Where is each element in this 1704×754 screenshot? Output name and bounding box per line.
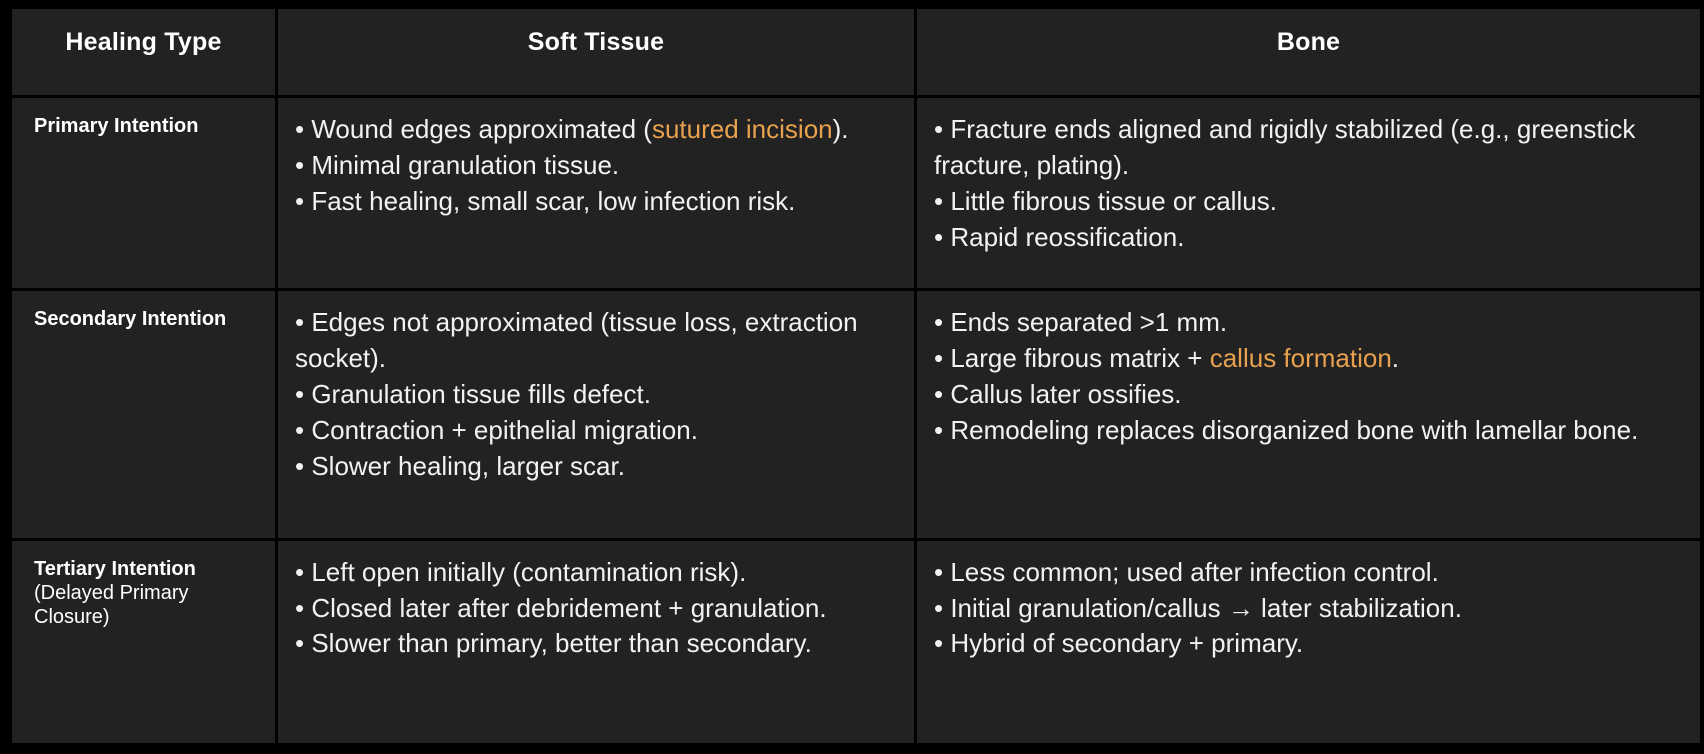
table-body: Primary Intention Wound edges approximat… xyxy=(11,97,1702,745)
bullet-item: Fracture ends aligned and rigidly stabil… xyxy=(934,112,1686,184)
bullet-text: Left open initially (contamination risk)… xyxy=(311,557,746,587)
table-row: Tertiary Intention (Delayed Primary Clos… xyxy=(11,539,1702,744)
bullet-list: Fracture ends aligned and rigidly stabil… xyxy=(934,112,1686,256)
column-header-healing-type: Healing Type xyxy=(11,8,277,97)
bullet-text: Less common; used after infection contro… xyxy=(950,557,1438,587)
column-header-soft-tissue: Soft Tissue xyxy=(277,8,916,97)
table-page: Healing Type Soft Tissue Bone Primary In… xyxy=(0,0,1704,754)
bullet-text: Granulation tissue fills defect. xyxy=(311,379,651,409)
cell-secondary-bone: Ends separated >1 mm.Large fibrous matri… xyxy=(916,290,1702,539)
bullet-item: Left open initially (contamination risk)… xyxy=(295,555,900,591)
highlighted-term: sutured incision xyxy=(652,114,833,144)
bullet-text: ). xyxy=(833,114,849,144)
cell-primary-bone: Fracture ends aligned and rigidly stabil… xyxy=(916,97,1702,290)
bullet-text: Slower healing, larger scar. xyxy=(311,451,625,481)
bullet-text: Hybrid of secondary + primary. xyxy=(950,628,1303,658)
bullet-item: Little fibrous tissue or callus. xyxy=(934,184,1686,220)
highlighted-term: callus formation xyxy=(1210,343,1392,373)
bullet-text: Edges not approximated (tissue loss, ext… xyxy=(295,307,858,373)
table-row: Secondary Intention Edges not approximat… xyxy=(11,290,1702,539)
column-header-bone: Bone xyxy=(916,8,1702,97)
bullet-item: Remodeling replaces disorganized bone wi… xyxy=(934,413,1686,449)
bullet-item: Slower than primary, better than seconda… xyxy=(295,626,900,662)
bullet-list: Ends separated >1 mm.Large fibrous matri… xyxy=(934,305,1686,449)
bullet-list: Edges not approximated (tissue loss, ext… xyxy=(295,305,900,484)
bullet-text: Callus later ossifies. xyxy=(950,379,1181,409)
bullet-item: Ends separated >1 mm. xyxy=(934,305,1686,341)
table-header: Healing Type Soft Tissue Bone xyxy=(11,8,1702,97)
cell-tertiary-bone: Less common; used after infection contro… xyxy=(916,539,1702,744)
bullet-text: Rapid reossification. xyxy=(950,222,1184,252)
row-label-secondary-intention: Secondary Intention xyxy=(11,290,277,539)
bullet-item: Rapid reossification. xyxy=(934,220,1686,256)
bullet-text: Minimal granulation tissue. xyxy=(311,150,619,180)
healing-comparison-table: Healing Type Soft Tissue Bone Primary In… xyxy=(9,6,1703,746)
bullet-item: Contraction + epithelial migration. xyxy=(295,413,900,449)
cell-tertiary-soft-tissue: Left open initially (contamination risk)… xyxy=(277,539,916,744)
row-label-tertiary-intention: Tertiary Intention (Delayed Primary Clos… xyxy=(11,539,277,744)
bullet-item: Closed later after debridement + granula… xyxy=(295,591,900,627)
row-label-main: Primary Intention xyxy=(34,114,265,138)
bullet-text: Slower than primary, better than seconda… xyxy=(311,628,812,658)
bullet-text: Ends separated >1 mm. xyxy=(950,307,1227,337)
bullet-item: Initial granulation/callus → later stabi… xyxy=(934,591,1686,627)
bullet-item: Callus later ossifies. xyxy=(934,377,1686,413)
bullet-item: Wound edges approximated (sutured incisi… xyxy=(295,112,900,148)
bullet-text: . xyxy=(1392,343,1399,373)
bullet-text: Fracture ends aligned and rigidly stabil… xyxy=(934,114,1635,180)
bullet-list: Wound edges approximated (sutured incisi… xyxy=(295,112,900,220)
bullet-text: Fast healing, small scar, low infection … xyxy=(311,186,795,216)
bullet-list: Less common; used after infection contro… xyxy=(934,555,1686,663)
bullet-text: Initial granulation/callus → later stabi… xyxy=(950,593,1462,623)
bullet-item: Less common; used after infection contro… xyxy=(934,555,1686,591)
bullet-text: Large fibrous matrix + xyxy=(950,343,1209,373)
row-label-primary-intention: Primary Intention xyxy=(11,97,277,290)
cell-secondary-soft-tissue: Edges not approximated (tissue loss, ext… xyxy=(277,290,916,539)
bullet-text: Remodeling replaces disorganized bone wi… xyxy=(950,415,1638,445)
bullet-item: Hybrid of secondary + primary. xyxy=(934,626,1686,662)
bullet-text: Wound edges approximated ( xyxy=(311,114,652,144)
row-label-main: Secondary Intention xyxy=(34,307,265,331)
bullet-item: Granulation tissue fills defect. xyxy=(295,377,900,413)
table-row: Primary Intention Wound edges approximat… xyxy=(11,97,1702,290)
row-label-main: Tertiary Intention xyxy=(34,557,265,581)
bullet-item: Fast healing, small scar, low infection … xyxy=(295,184,900,220)
bullet-item: Large fibrous matrix + callus formation. xyxy=(934,341,1686,377)
bullet-item: Slower healing, larger scar. xyxy=(295,449,900,485)
bullet-list: Left open initially (contamination risk)… xyxy=(295,555,900,663)
table-header-row: Healing Type Soft Tissue Bone xyxy=(11,8,1702,97)
bullet-item: Minimal granulation tissue. xyxy=(295,148,900,184)
cell-primary-soft-tissue: Wound edges approximated (sutured incisi… xyxy=(277,97,916,290)
bullet-text: Closed later after debridement + granula… xyxy=(311,593,826,623)
bullet-item: Edges not approximated (tissue loss, ext… xyxy=(295,305,900,377)
bullet-text: Contraction + epithelial migration. xyxy=(311,415,698,445)
bullet-text: Little fibrous tissue or callus. xyxy=(950,186,1277,216)
row-label-sub: (Delayed Primary Closure) xyxy=(34,581,265,630)
